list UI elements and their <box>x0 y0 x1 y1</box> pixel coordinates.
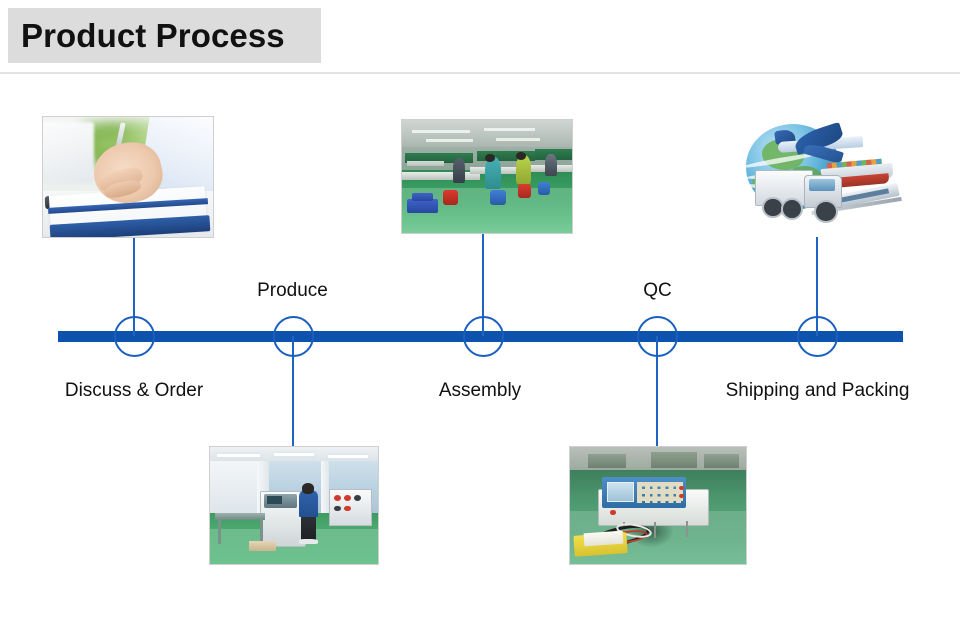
milestone-produce[interactable] <box>273 316 314 357</box>
photo-shipping-packing <box>739 118 902 237</box>
photo-assembly <box>401 119 573 234</box>
photo-discuss-order <box>42 116 214 238</box>
timeline-label-shipping-packing: Shipping and Packing <box>685 381 950 400</box>
page-title: Product Process <box>8 19 285 52</box>
milestone-discuss-order[interactable] <box>114 316 155 357</box>
header-divider <box>0 72 960 74</box>
page-header: Product Process <box>0 0 960 74</box>
photo-qc <box>569 446 747 565</box>
timeline-label-assembly: Assembly <box>380 381 580 400</box>
milestone-assembly[interactable] <box>463 316 504 357</box>
milestone-qc[interactable] <box>637 316 678 357</box>
timeline-label-qc: QC <box>580 281 735 300</box>
milestone-shipping-packing[interactable] <box>797 316 838 357</box>
page-title-box: Product Process <box>8 8 321 63</box>
photo-produce <box>209 446 379 565</box>
timeline-label-discuss-order: Discuss & Order <box>0 381 268 400</box>
timeline-label-produce: Produce <box>195 281 390 300</box>
